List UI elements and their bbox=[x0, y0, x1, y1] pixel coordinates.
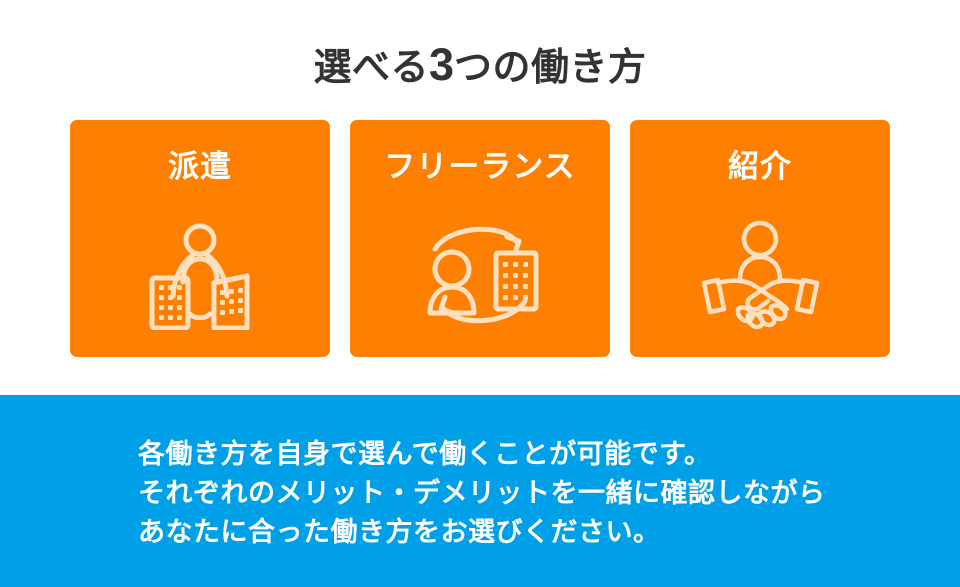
footer-message-line-2: それぞれのメリット・デメリットを一緒に確認しながら bbox=[138, 474, 826, 513]
footer-message-band: 各働き方を自身で選んで働くことが可能です。 それぞれのメリット・デメリットを一緒… bbox=[0, 395, 960, 587]
person-building-exchange-arrows-icon bbox=[350, 212, 610, 337]
work-style-card-shoukai[interactable]: 紹介 bbox=[630, 120, 890, 357]
work-style-card-haken[interactable]: 派遣 bbox=[70, 120, 330, 357]
work-style-card-list: 派遣 bbox=[70, 120, 890, 357]
page-title: 選べる3つの働き方 bbox=[0, 40, 960, 93]
work-style-card-freelance[interactable]: フリーランス bbox=[350, 120, 610, 357]
person-between-two-buildings-icon bbox=[70, 212, 330, 337]
card-label: フリーランス bbox=[350, 148, 610, 186]
footer-message-line-3: あなたに合った働き方をお選びください。 bbox=[138, 513, 826, 552]
handshake-with-person-icon bbox=[630, 212, 890, 337]
page-title-number: 3 bbox=[429, 39, 454, 90]
footer-message-line-1: 各働き方を自身で選んで働くことが可能です。 bbox=[138, 435, 826, 474]
card-label: 派遣 bbox=[70, 148, 330, 186]
page-title-prefix: 選べる bbox=[313, 47, 429, 89]
page-title-suffix: つの働き方 bbox=[454, 47, 647, 89]
infographic-root: 選べる3つの働き方 派遣 bbox=[0, 0, 960, 587]
footer-message: 各働き方を自身で選んで働くことが可能です。 それぞれのメリット・デメリットを一緒… bbox=[138, 435, 826, 552]
card-label: 紹介 bbox=[630, 148, 890, 186]
